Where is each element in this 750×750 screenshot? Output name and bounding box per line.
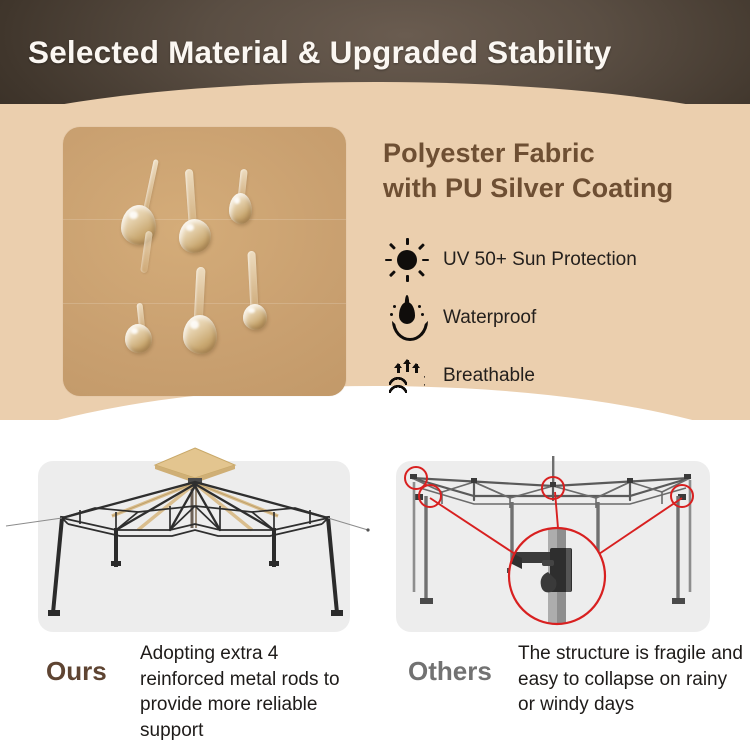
others-label: Others xyxy=(408,656,492,687)
feature-waterproof: Waterproof xyxy=(385,296,536,340)
feature-uv-protection: UV 50+ Sun Protection xyxy=(385,238,637,282)
water-drop-icon xyxy=(385,296,429,340)
breathable-icon xyxy=(385,354,429,398)
fabric-seam xyxy=(63,303,346,304)
fabric-heading: Polyester Fabric with PU Silver Coating xyxy=(383,136,673,206)
fabric-seam xyxy=(63,219,346,220)
feature-label: Breathable xyxy=(443,365,535,387)
product-infographic: Selected Material & Upgraded Stability xyxy=(0,0,750,750)
feature-label: UV 50+ Sun Protection xyxy=(443,249,637,271)
others-description: The structure is fragile and easy to col… xyxy=(518,641,743,718)
page-title: Selected Material & Upgraded Stability xyxy=(28,34,612,71)
header-bottom-curve xyxy=(0,82,750,104)
ours-description: Adopting extra 4 reinforced metal rods t… xyxy=(140,641,365,743)
fabric-heading-line-1: Polyester Fabric xyxy=(383,136,673,171)
others-canopy-illustration xyxy=(390,452,720,638)
feature-label: Waterproof xyxy=(443,307,536,329)
feature-breathable: Breathable xyxy=(385,354,535,398)
sun-icon xyxy=(385,238,429,282)
fabric-heading-line-2: with PU Silver Coating xyxy=(383,171,673,206)
water-beading-photo xyxy=(63,127,346,396)
ours-canopy-illustration xyxy=(20,438,370,638)
ours-label: Ours xyxy=(46,656,107,687)
